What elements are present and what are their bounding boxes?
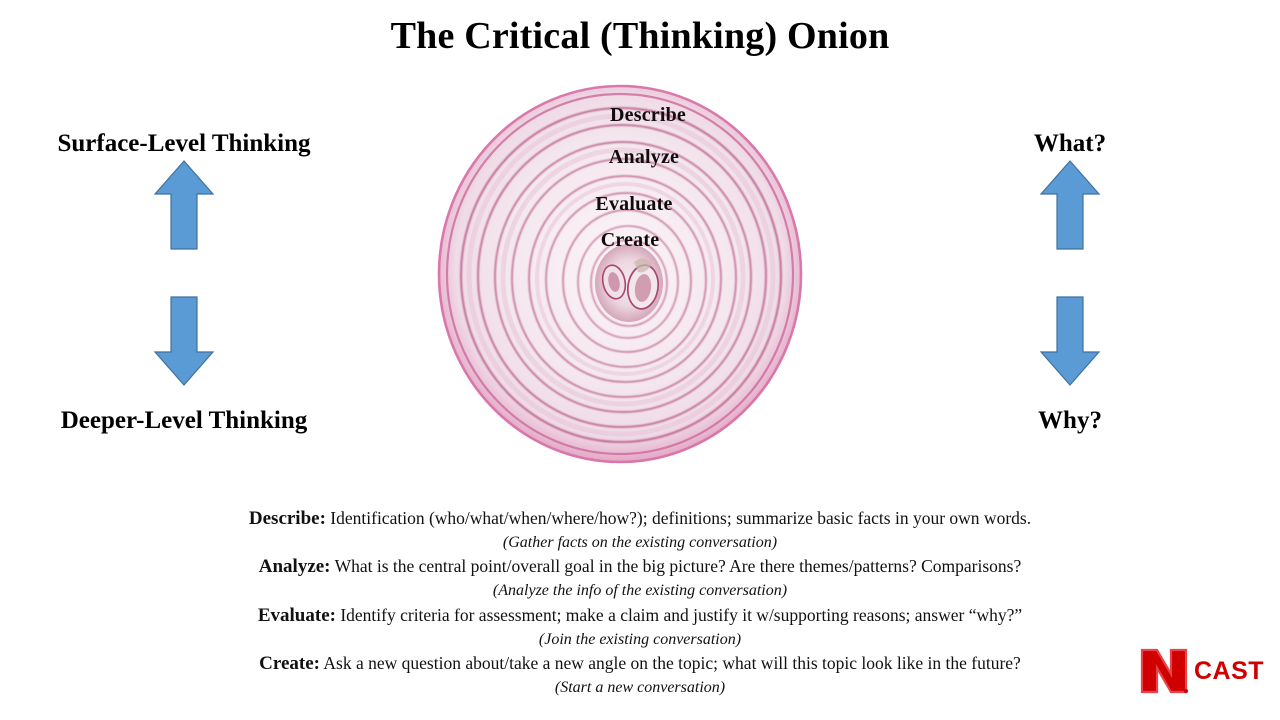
left-up-arrow-slot	[14, 158, 354, 252]
down-arrow-icon	[1038, 294, 1102, 388]
onion-image	[436, 84, 804, 468]
definition-row-analyze: Analyze: What is the central point/overa…	[0, 554, 1280, 579]
definition-term: Create:	[259, 653, 320, 674]
definition-body: Identification (who/what/when/where/how?…	[330, 508, 1031, 528]
ncast-logo: CAST	[1140, 644, 1268, 698]
what-label: What?	[900, 130, 1240, 158]
arrow-gap	[14, 252, 354, 294]
nebraska-n-logo-icon	[1140, 646, 1188, 696]
arrow-gap	[900, 252, 1240, 294]
definition-row-create: Create: Ask a new question about/take a …	[0, 651, 1280, 676]
why-label: Why?	[900, 407, 1240, 435]
page-title: The Critical (Thinking) Onion	[0, 14, 1280, 58]
slide-canvas: The Critical (Thinking) Onion	[0, 0, 1280, 720]
definition-term: Analyze:	[259, 556, 331, 577]
right-up-arrow-slot	[900, 158, 1240, 252]
definition-note: (Analyze the info of the existing conver…	[0, 579, 1280, 602]
onion-cross-section-graphic	[436, 84, 804, 468]
definition-note: (Gather facts on the existing conversati…	[0, 531, 1280, 554]
deeper-level-thinking-label: Deeper-Level Thinking	[14, 407, 354, 435]
definition-term: Evaluate:	[258, 605, 336, 626]
definition-note: (Start a new conversation)	[0, 676, 1280, 699]
right-axis-group: What? Why?	[900, 130, 1240, 435]
left-axis-group: Surface-Level Thinking Deeper-Level Thin…	[14, 130, 354, 435]
definition-body: Identify criteria for assessment; make a…	[340, 605, 1022, 625]
right-down-arrow-slot	[900, 294, 1240, 388]
definition-term: Describe:	[249, 508, 326, 529]
definition-row-evaluate: Evaluate: Identify criteria for assessme…	[0, 603, 1280, 628]
definition-body: What is the central point/overall goal i…	[335, 556, 1022, 576]
down-arrow-icon	[152, 294, 216, 388]
definition-row-describe: Describe: Identification (who/what/when/…	[0, 506, 1280, 531]
up-arrow-icon	[1038, 158, 1102, 252]
up-arrow-icon	[152, 158, 216, 252]
left-down-arrow-slot	[14, 294, 354, 388]
logo-cast-text: CAST	[1194, 659, 1264, 684]
definition-note: (Join the existing conversation)	[0, 628, 1280, 651]
definition-list: Describe: Identification (who/what/when/…	[0, 506, 1280, 699]
definition-body: Ask a new question about/take a new angl…	[323, 653, 1020, 673]
surface-level-thinking-label: Surface-Level Thinking	[14, 130, 354, 158]
